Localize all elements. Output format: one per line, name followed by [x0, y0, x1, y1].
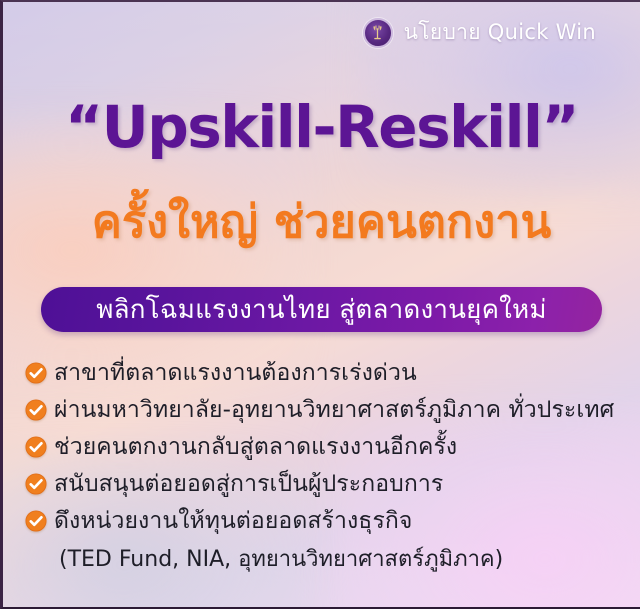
- list-item-label: ช่วยคนตกงานกลับสู่ตลาดแรงงานอีกครั้ง: [54, 432, 457, 462]
- poster-content: นโยบาย Quick Win “Upskill-Reskill” ครั้ง…: [3, 2, 640, 607]
- funding-note: (TED Fund, NIA, อุทยานวิทยาศาสตร์ภูมิภาค…: [25, 545, 626, 575]
- list-item-label: สาขาที่ตลาดแรงงานต้องการเร่งด่วน: [54, 358, 417, 388]
- trident-emblem-icon: [363, 18, 393, 48]
- check-circle-icon: [25, 510, 47, 532]
- headline-thai: ครั้งใหญ่ ช่วยคนตกงาน: [3, 198, 640, 247]
- list-item-label: ดึงหน่วยงานให้ทุนต่อยอดสร้างธุรกิจ: [54, 506, 413, 536]
- brand-row: นโยบาย Quick Win: [363, 16, 596, 49]
- banner-pill: พลิกโฉมแรงงานไทย สู่ตลาดงานยุคใหม่: [41, 287, 602, 332]
- check-circle-icon: [25, 362, 47, 384]
- funding-note-label: (TED Fund, NIA, อุทยานวิทยาศาสตร์ภูมิภาค…: [59, 547, 503, 572]
- list-item: ช่วยคนตกงานกลับสู่ตลาดแรงงานอีกครั้ง: [25, 432, 626, 469]
- poster-root: นโยบาย Quick Win “Upskill-Reskill” ครั้ง…: [0, 0, 640, 609]
- list-item: ผ่านมหาวิทยาลัย-อุทยานวิทยาศาสตร์ภูมิภาค…: [25, 395, 626, 432]
- check-circle-icon: [25, 399, 47, 421]
- banner-label: พลิกโฉมแรงงานไทย สู่ตลาดงานยุคใหม่: [96, 297, 546, 323]
- brand-label: นโยบาย Quick Win: [404, 16, 596, 49]
- list-item: สนับสนุนต่อยอดสู่การเป็นผู้ประกอบการ: [25, 469, 626, 506]
- list-item: สาขาที่ตลาดแรงงานต้องการเร่งด่วน: [25, 358, 626, 395]
- list-item: ดึงหน่วยงานให้ทุนต่อยอดสร้างธุรกิจ: [25, 506, 626, 543]
- headline-english: “Upskill-Reskill”: [3, 98, 640, 156]
- list-item-label: สนับสนุนต่อยอดสู่การเป็นผู้ประกอบการ: [54, 469, 443, 499]
- list-item-label: ผ่านมหาวิทยาลัย-อุทยานวิทยาศาสตร์ภูมิภาค…: [54, 395, 614, 425]
- check-circle-icon: [25, 436, 47, 458]
- bullet-list: สาขาที่ตลาดแรงงานต้องการเร่งด่วน ผ่านมหา…: [25, 358, 626, 575]
- check-circle-icon: [25, 473, 47, 495]
